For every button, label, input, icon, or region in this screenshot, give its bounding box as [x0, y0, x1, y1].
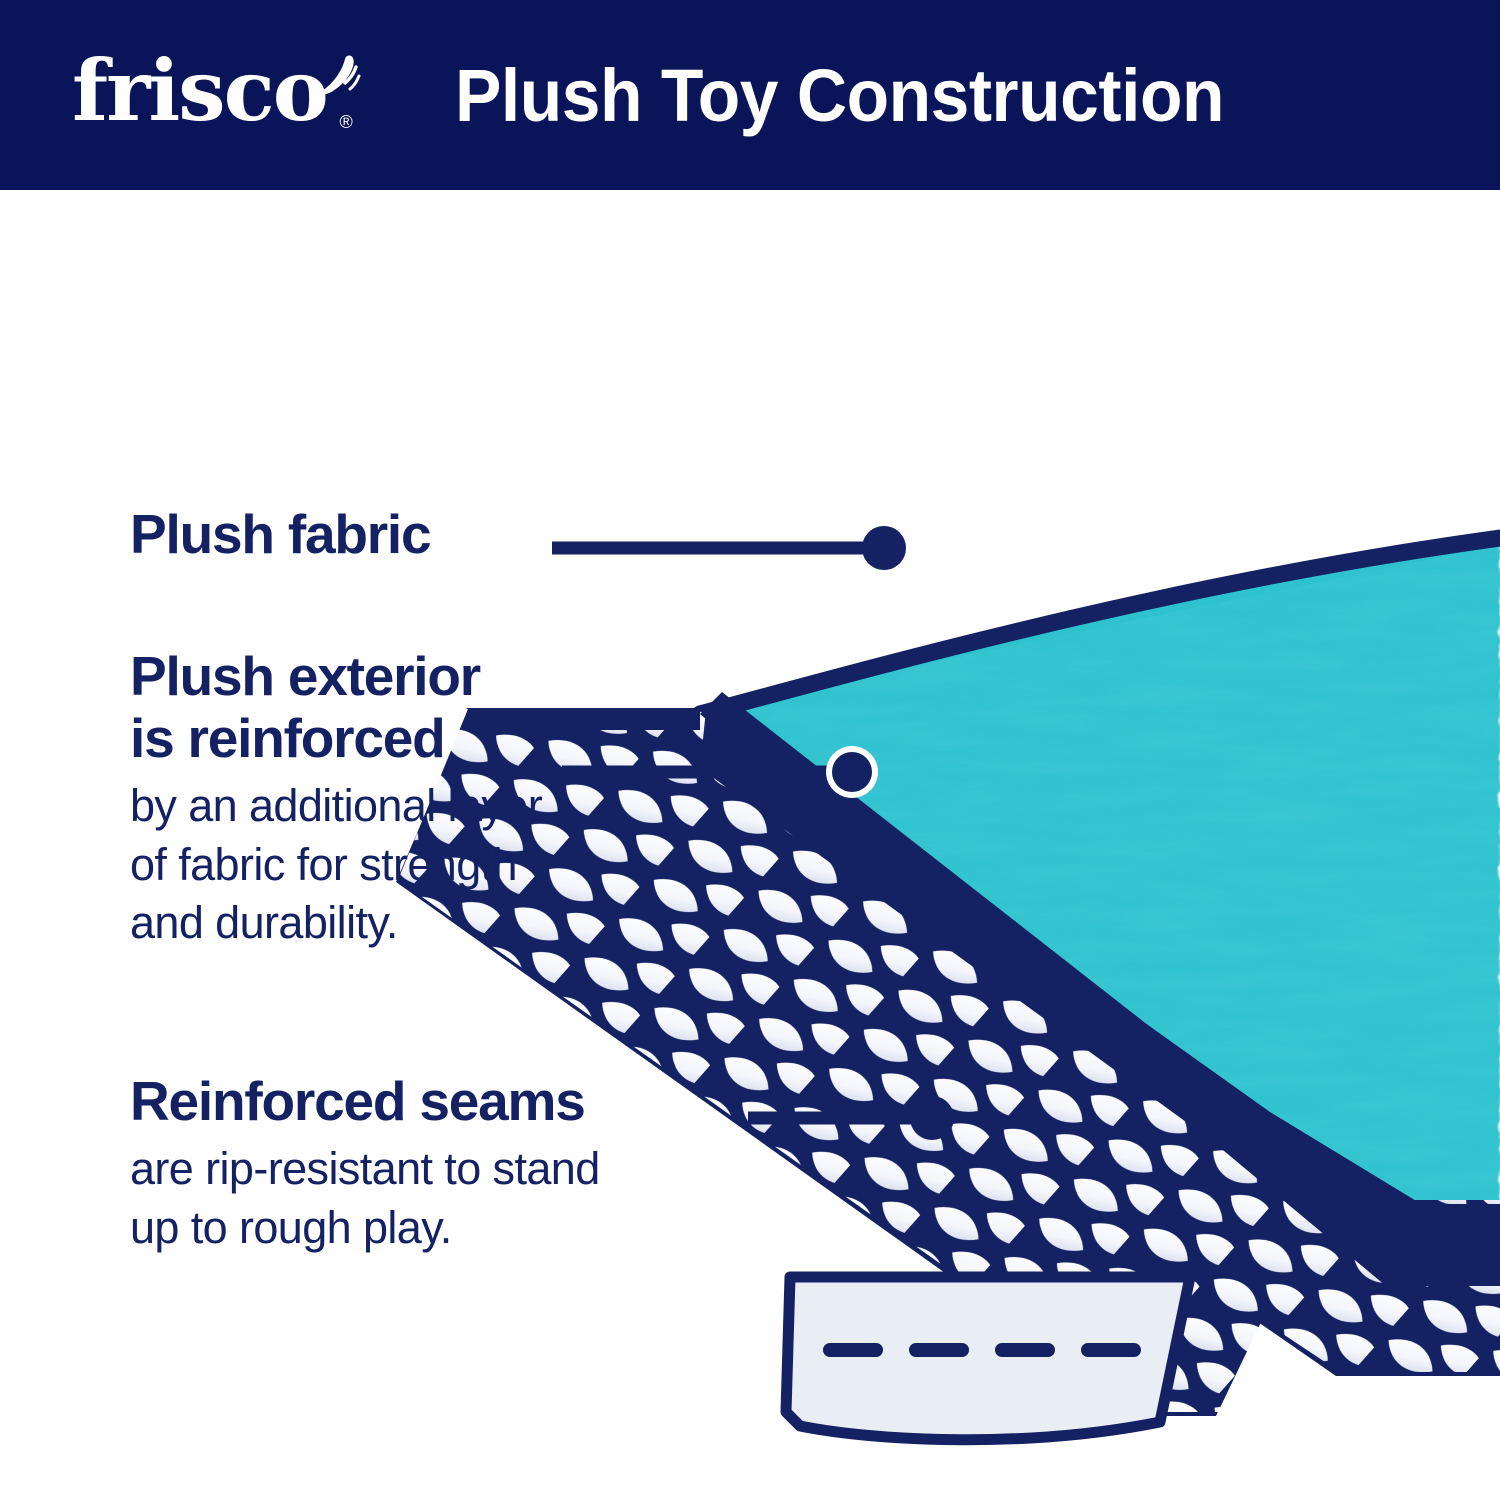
- page-title: Plush Toy Construction: [455, 53, 1224, 138]
- callout-body-line-3: and durability.: [130, 897, 398, 948]
- callout-heading-reinforced-seams: Reinforced seams: [130, 1070, 600, 1132]
- callout-body-line-2: of fabric for strength: [130, 839, 517, 890]
- callout-body-reinforced-seams: are rip-resistant to stand up to rough p…: [130, 1140, 600, 1257]
- infographic-canvas: frisco ® Plush Toy Construction: [0, 0, 1500, 1500]
- callout-heading-line-2: is reinforced: [130, 707, 445, 769]
- seam-flap: [786, 1277, 1190, 1440]
- callout-body-plush-exterior: by an additional layer of fabric for str…: [130, 777, 542, 953]
- callout-plush-fabric: Plush fabric: [130, 503, 430, 565]
- frisco-logo: frisco ®: [72, 49, 327, 133]
- registered-trademark-icon: ®: [340, 113, 353, 131]
- callout-body-line-1: are rip-resistant to stand: [130, 1143, 600, 1194]
- leader-dot-plush-fabric: [862, 526, 906, 570]
- header-bar: frisco ® Plush Toy Construction: [0, 0, 1500, 190]
- callout-reinforced-seams: Reinforced seams are rip-resistant to st…: [130, 1070, 600, 1257]
- callout-body-line-2: up to rough play.: [130, 1202, 452, 1253]
- callout-body-line-1: by an additional layer: [130, 780, 542, 831]
- leader-dot-plush-exterior: [832, 752, 872, 792]
- callout-plush-exterior: Plush exterior is reinforced by an addit…: [130, 645, 542, 953]
- logo-swoosh-icon: [315, 53, 361, 99]
- brand-wordmark: frisco: [72, 41, 327, 140]
- callout-heading-plush-fabric: Plush fabric: [130, 503, 430, 565]
- callout-heading-line-1: Plush exterior: [130, 645, 480, 707]
- callout-heading-plush-exterior: Plush exterior is reinforced: [130, 645, 542, 769]
- leader-dot-reinforced-seams: [910, 1096, 954, 1140]
